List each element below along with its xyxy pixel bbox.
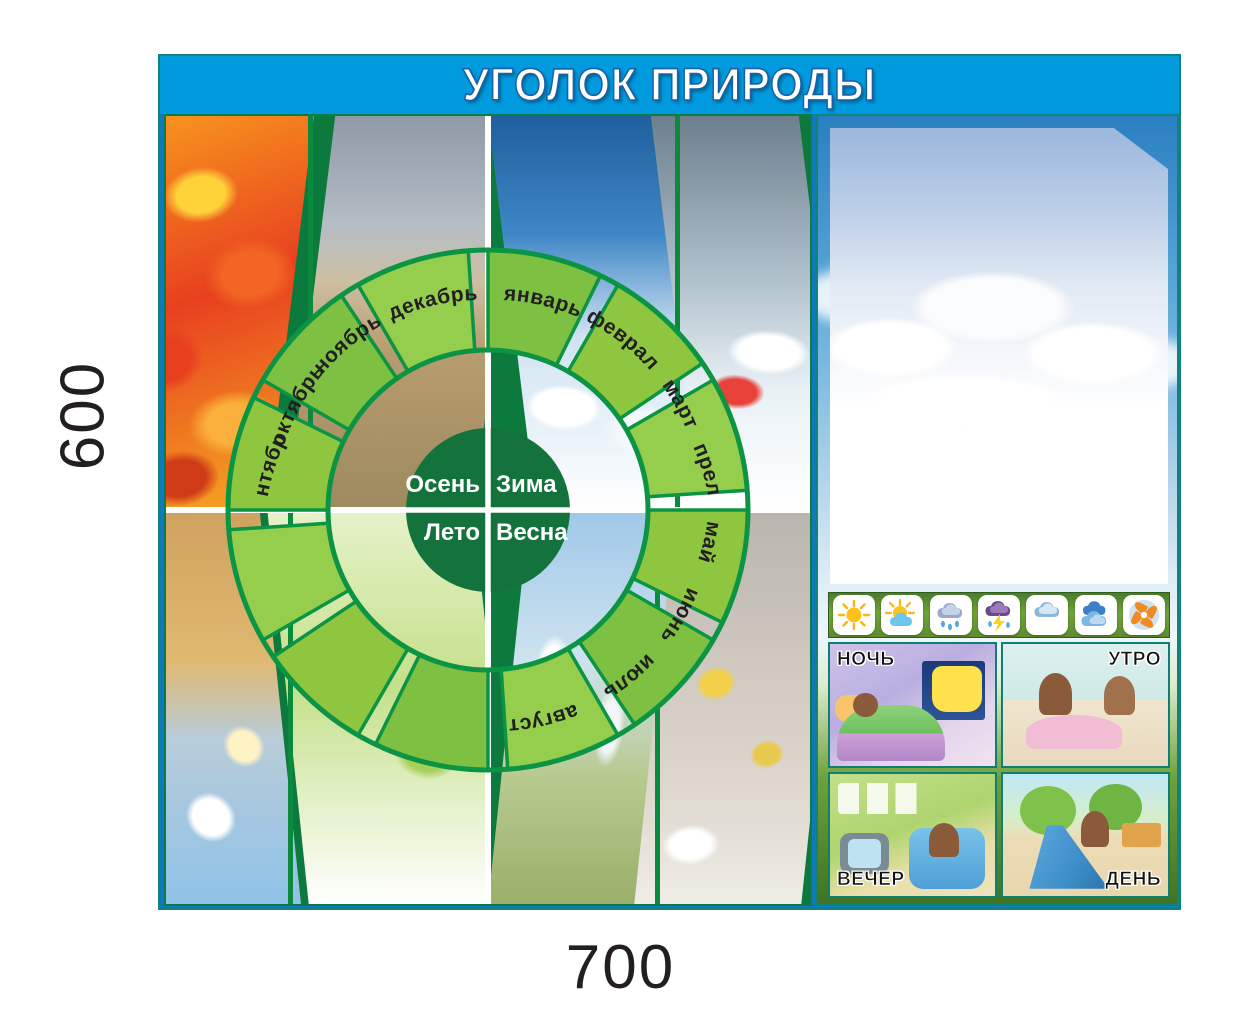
sun-cloud-icon[interactable] [881, 595, 923, 635]
weather-icons-strip [828, 592, 1170, 638]
breakfast-table-graphic [1026, 715, 1122, 749]
center-label-summer: Лето [424, 519, 480, 546]
thunderstorm-icon[interactable] [978, 595, 1020, 635]
screenshot-canvas: 600 700 УГОЛОК ПРИРОДЫ [0, 0, 1241, 1016]
child-graphic [1039, 673, 1072, 714]
day-part-card-evening[interactable]: ВЕЧЕР [828, 772, 997, 898]
page-title: УГОЛОК ПРИРОДЫ [463, 59, 876, 111]
day-part-label-night: НОЧЬ [837, 649, 895, 671]
child-graphic [929, 823, 959, 857]
moon-icon [932, 666, 982, 712]
day-part-label-day: ДЕНЬ [1105, 869, 1161, 891]
snow-cloud-icon[interactable] [1026, 595, 1068, 635]
rain-cloud-icon[interactable] [930, 595, 972, 635]
weather-card-pocket[interactable] [830, 128, 1168, 584]
dimension-label-width: 700 [0, 932, 1241, 1003]
information-board: УГОЛОК ПРИРОДЫ [158, 54, 1181, 910]
center-label-winter: Зима [496, 471, 557, 498]
day-part-card-day[interactable]: ДЕНЬ [1001, 772, 1170, 898]
day-part-label-evening: ВЕЧЕР [837, 869, 905, 891]
bench-graphic [1122, 823, 1162, 847]
child-graphic [1081, 811, 1109, 848]
center-label-spring: Весна [496, 519, 568, 546]
seasons-wheel-panel: сентябрь октябрь ноябрь декабрь январь [164, 114, 812, 906]
wall-pictures-graphic [838, 783, 934, 815]
day-parts-grid: НОЧЬ УТРО ВЕЧЕР [828, 642, 1170, 898]
day-part-card-morning[interactable]: УТРО [1001, 642, 1170, 768]
months-wheel: сентябрь октябрь ноябрь декабрь январь [218, 240, 758, 780]
wheel-center: Осень Зима Лето Весна [405, 428, 570, 592]
right-column: НОЧЬ УТРО ВЕЧЕР [816, 114, 1179, 906]
tv-screen-graphic [848, 839, 881, 868]
center-label-autumn: Осень [405, 471, 480, 498]
day-part-card-night[interactable]: НОЧЬ [828, 642, 997, 768]
dimension-label-height: 600 [48, 351, 119, 481]
bed-graphic [837, 705, 946, 761]
sleeping-child-graphic [853, 693, 878, 717]
day-part-label-morning: УТРО [1108, 649, 1161, 671]
wind-icon[interactable] [1123, 595, 1165, 635]
clouds-graphic [830, 237, 1168, 438]
child-graphic [1104, 676, 1135, 715]
board-header: УГОЛОК ПРИРОДЫ [160, 56, 1179, 114]
sun-icon[interactable] [833, 595, 875, 635]
cloud-icon[interactable] [1075, 595, 1117, 635]
